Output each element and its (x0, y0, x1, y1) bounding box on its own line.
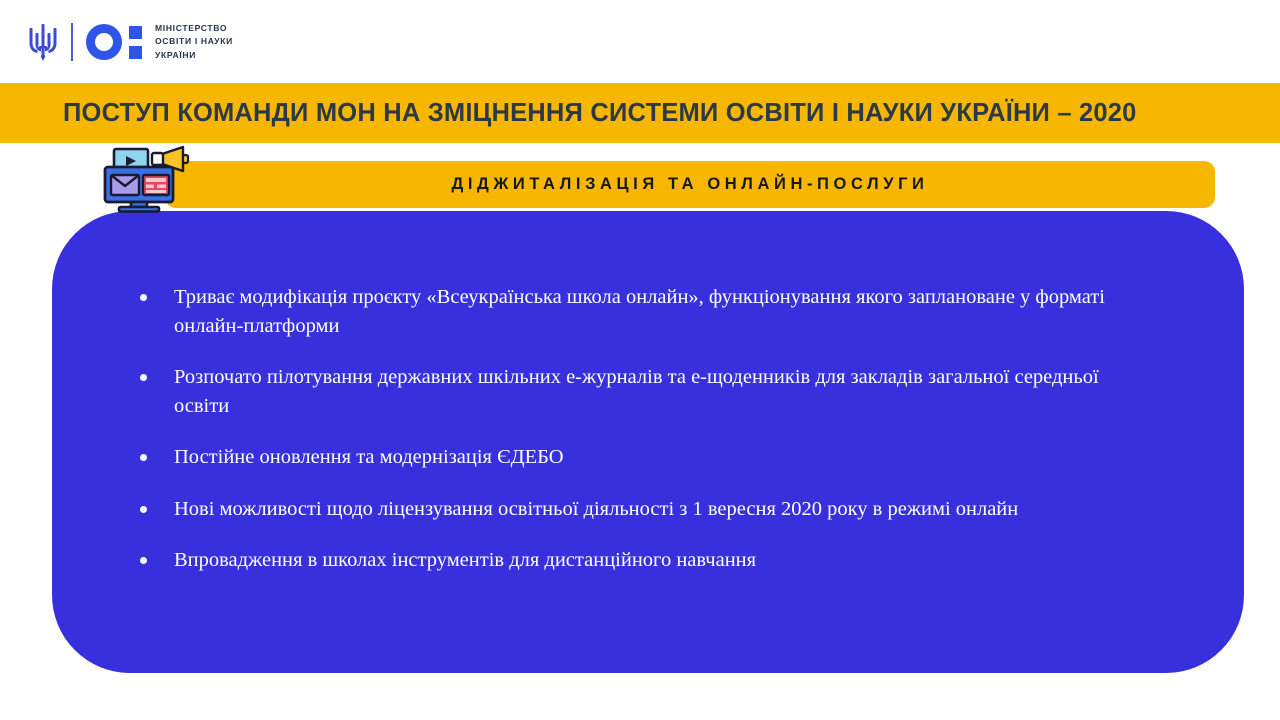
list-item-label: Впровадження в школах інструментів для д… (174, 546, 756, 575)
list-item: Розпочато пілотування державних шкільних… (140, 363, 1150, 421)
section-header-bar: ДІДЖИТАЛІЗАЦІЯ ТА ОНЛАЙН-ПОСЛУГИ (165, 161, 1215, 208)
mon-o-mark-icon (86, 24, 142, 60)
logo-square-top (129, 26, 142, 39)
monitor-megaphone-icon (100, 145, 206, 213)
ministry-name-line-3: УКРАЇНИ (155, 49, 233, 62)
envelope-icon (111, 175, 139, 195)
ministry-name: МІНІСТЕРСТВО ОСВІТИ І НАУКИ УКРАЇНИ (155, 22, 233, 62)
ministry-name-line-1: МІНІСТЕРСТВО (155, 22, 233, 35)
logo-divider (71, 23, 73, 61)
bullet-dot-icon (140, 374, 147, 381)
slide-title-bar: ПОСТУП КОМАНДИ МОН НА ЗМІЦНЕННЯ СИСТЕМИ … (0, 83, 1280, 143)
list-item: Нові можливості щодо ліцензування освітн… (140, 495, 1150, 524)
logo-square-bottom (129, 46, 142, 59)
logo-squares-icon (129, 26, 142, 59)
list-item: Постійне оновлення та модернізація ЄДЕБО (140, 443, 1150, 472)
list-card-icon (143, 175, 169, 195)
ukraine-trident-icon (28, 22, 58, 62)
bullet-list: Триває модифікація проєкту «Всеукраїнськ… (140, 283, 1150, 575)
ministry-logo: МІНІСТЕРСТВО ОСВІТИ І НАУКИ УКРАЇНИ (28, 14, 233, 70)
section-title: ДІДЖИТАЛІЗАЦІЯ ТА ОНЛАЙН-ПОСЛУГИ (451, 175, 928, 194)
bullet-dot-icon (140, 294, 147, 301)
bullet-dot-icon (140, 557, 147, 564)
ministry-name-line-2: ОСВІТИ І НАУКИ (155, 35, 233, 48)
bullet-dot-icon (140, 506, 147, 513)
list-item-label: Триває модифікація проєкту «Всеукраїнськ… (174, 283, 1150, 341)
list-item-label: Розпочато пілотування державних шкільних… (174, 363, 1150, 421)
page-title: ПОСТУП КОМАНДИ МОН НА ЗМІЦНЕННЯ СИСТЕМИ … (63, 99, 1137, 128)
bullet-dot-icon (140, 454, 147, 461)
list-item: Триває модифікація проєкту «Всеукраїнськ… (140, 283, 1150, 341)
list-item-label: Нові можливості щодо ліцензування освітн… (174, 495, 1018, 524)
list-item-label: Постійне оновлення та модернізація ЄДЕБО (174, 443, 564, 472)
list-item: Впровадження в школах інструментів для д… (140, 546, 1150, 575)
logo-circle-icon (86, 24, 122, 60)
